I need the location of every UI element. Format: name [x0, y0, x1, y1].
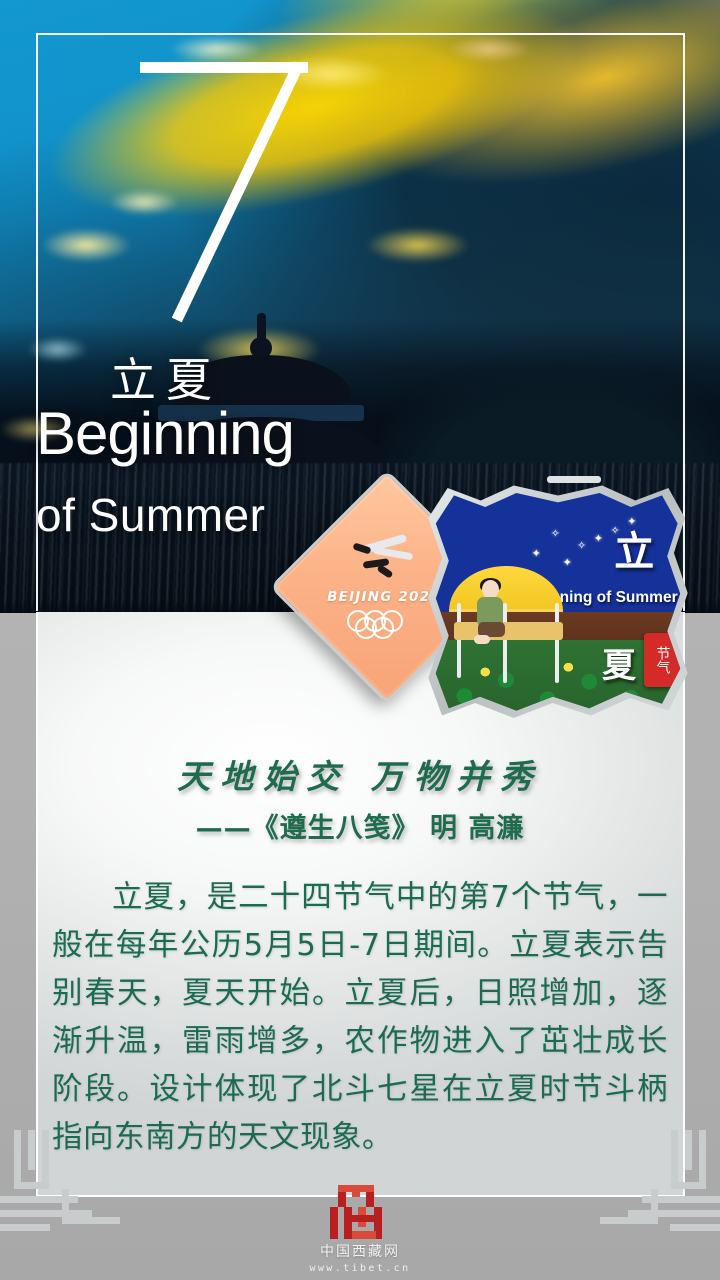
- badge-face: ✦ ✧ ✦ ✧ ✦ ✧ ✦ 立 The Beginning of Summer …: [428, 486, 688, 720]
- solar-term-title-en-line2: of Summer: [36, 492, 265, 538]
- footer-site-url: www.tibet.cn: [309, 1263, 410, 1274]
- footer-site-name: 中国西藏网: [320, 1241, 400, 1261]
- dong-winter-emblem-icon: [347, 536, 421, 584]
- olympic-rings-icon: [347, 610, 421, 632]
- body-paragraph: 立夏，是二十四节气中的第7个节气，一般在每年公历5月5日-7日期间。立夏表示告别…: [52, 874, 668, 1162]
- beginning-of-summer-badge[interactable]: ✦ ✧ ✦ ✧ ✦ ✧ ✦ 立 The Beginning of Summer …: [420, 478, 696, 728]
- poster-canvas: 立夏 Beginning of Summer BEIJING 2022: [0, 0, 720, 1280]
- badge-char-li: 立: [614, 519, 654, 577]
- site-footer: 中国西藏网 www.tibet.cn: [0, 1185, 720, 1274]
- dark-ridge: [380, 330, 720, 480]
- poem-source: ——《遵生八笺》 明 高濂: [0, 806, 720, 845]
- tibet-seal-logo-icon: [330, 1185, 390, 1239]
- farmer-figure: [472, 580, 514, 650]
- badge-char-xia: 夏: [602, 638, 636, 687]
- poem-heading: 天地始交 万物并秀: [0, 750, 720, 798]
- badge-hook: [547, 476, 601, 483]
- solar-term-title-en-line1: Beginning: [36, 404, 294, 464]
